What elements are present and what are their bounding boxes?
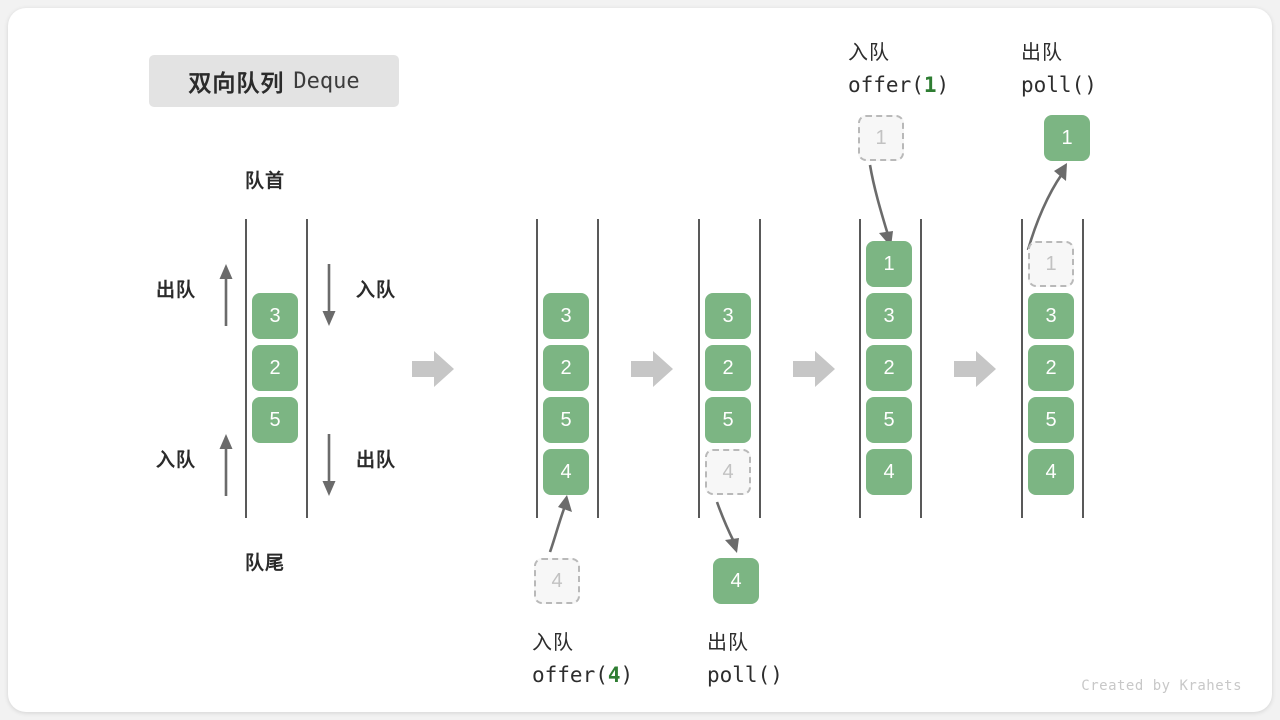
operation-label-cn: 入队	[848, 38, 949, 69]
operation-label-poll-head: 出队 poll()	[1021, 38, 1097, 102]
code-suffix: )	[770, 663, 783, 687]
cell: 2	[1028, 345, 1074, 391]
motion-arrow-up	[1018, 160, 1088, 252]
deque-rail-left	[536, 219, 538, 518]
operation-label-code: poll()	[707, 659, 783, 692]
motion-arrow-down	[708, 500, 768, 556]
label-dequeue-head: 出队	[156, 275, 196, 302]
cell: 4	[543, 449, 589, 495]
tail-label: 队尾	[245, 548, 285, 575]
operation-label-code: offer(4)	[532, 659, 633, 692]
cell: 5	[252, 397, 298, 443]
cell: 4	[866, 449, 912, 495]
code-prefix: poll(	[1021, 73, 1084, 97]
operation-label-offer-1: 入队 offer(1)	[848, 38, 949, 102]
arrow-up-head	[213, 262, 239, 328]
operation-label-poll-tail: 出队 poll()	[707, 628, 783, 692]
floating-cell: 1	[1044, 115, 1090, 161]
operation-label-cn: 出队	[707, 628, 783, 659]
code-arg: 1	[924, 73, 937, 97]
cell: 3	[705, 293, 751, 339]
deque-rail-left	[1021, 219, 1023, 518]
label-enqueue-tail: 入队	[156, 445, 196, 472]
cell: 5	[705, 397, 751, 443]
step-arrow-icon	[412, 350, 454, 388]
operation-label-code: poll()	[1021, 69, 1097, 102]
head-label: 队首	[245, 166, 285, 193]
cell: 4	[1028, 449, 1074, 495]
deque-rail-left	[859, 219, 861, 518]
cell-ghost: 1	[1028, 241, 1074, 287]
cell: 2	[866, 345, 912, 391]
cell: 2	[543, 345, 589, 391]
deque-rail-right	[759, 219, 761, 518]
label-enqueue-head: 入队	[356, 275, 396, 302]
title-chinese: 双向队列	[188, 64, 284, 98]
diagram-canvas: 双向队列 Deque 队首 队尾 3 2 5 出队 入队	[0, 0, 1280, 720]
credit-text: Created by Krahets	[1081, 678, 1242, 694]
code-prefix: poll(	[707, 663, 770, 687]
motion-arrow-up	[533, 494, 603, 556]
code-suffix: )	[937, 73, 950, 97]
cell: 3	[1028, 293, 1074, 339]
arrow-up-tail	[213, 432, 239, 498]
code-prefix: offer(	[532, 663, 608, 687]
title-english: Deque	[293, 69, 359, 94]
deque-rail-left	[245, 219, 247, 518]
title-badge: 双向队列 Deque	[149, 55, 399, 107]
deque-rail-right	[1082, 219, 1084, 518]
floating-cell-ghost: 4	[534, 558, 580, 604]
operation-label-cn: 出队	[1021, 38, 1097, 69]
step-arrow-icon	[793, 350, 835, 388]
floating-cell: 4	[713, 558, 759, 604]
code-arg: 4	[608, 663, 621, 687]
cell: 3	[543, 293, 589, 339]
cell: 2	[252, 345, 298, 391]
cell: 5	[1028, 397, 1074, 443]
diagram-card: 双向队列 Deque 队首 队尾 3 2 5 出队 入队	[8, 8, 1272, 712]
label-dequeue-tail: 出队	[356, 445, 396, 472]
cell: 3	[866, 293, 912, 339]
cell: 5	[866, 397, 912, 443]
code-prefix: offer(	[848, 73, 924, 97]
step-arrow-icon	[954, 350, 996, 388]
cell: 3	[252, 293, 298, 339]
code-suffix: )	[1084, 73, 1097, 97]
operation-label-offer-4: 入队 offer(4)	[532, 628, 633, 692]
cell: 1	[866, 241, 912, 287]
deque-rail-left	[698, 219, 700, 518]
deque-rail-right	[920, 219, 922, 518]
operation-label-code: offer(1)	[848, 69, 949, 102]
arrow-down-head	[316, 262, 342, 328]
step-arrow-icon	[631, 350, 673, 388]
motion-arrow-down	[854, 163, 914, 251]
floating-cell-ghost: 1	[858, 115, 904, 161]
deque-rail-right	[597, 219, 599, 518]
arrow-down-tail	[316, 432, 342, 498]
cell: 2	[705, 345, 751, 391]
code-suffix: )	[621, 663, 634, 687]
cell-ghost: 4	[705, 449, 751, 495]
deque-rail-right	[306, 219, 308, 518]
operation-label-cn: 入队	[532, 628, 633, 659]
cell: 5	[543, 397, 589, 443]
